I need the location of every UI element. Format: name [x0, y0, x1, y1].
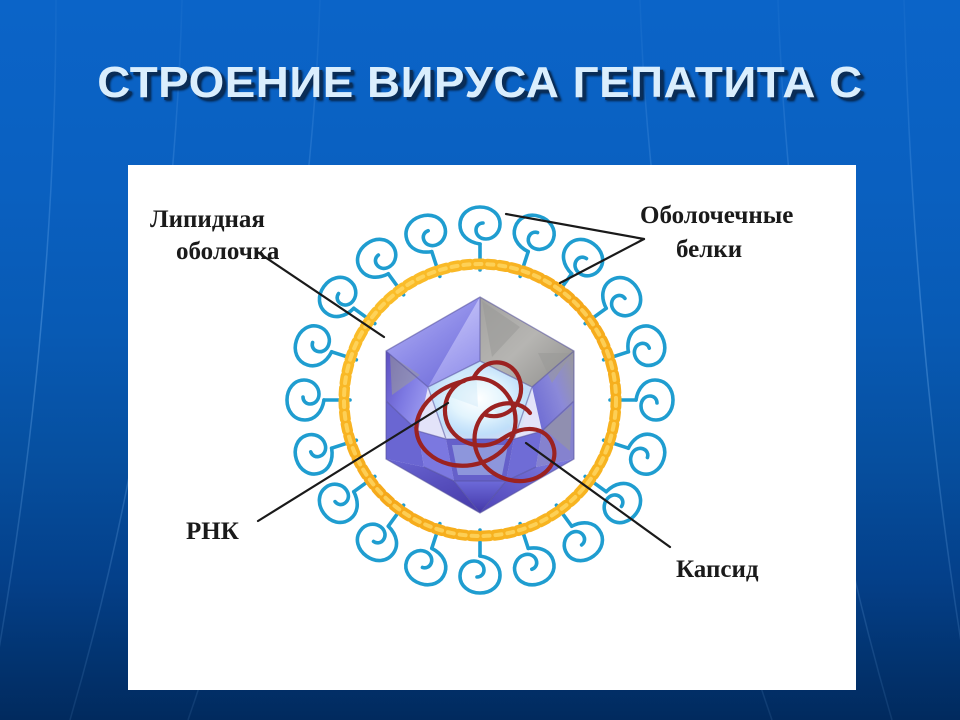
label-envelope-proteins-line2: белки [676, 236, 742, 263]
slide-root: СТРОЕНИЕ ВИРУСА ГЕПАТИТА С [0, 0, 960, 720]
label-lipid-envelope-line2: оболочка [176, 238, 280, 265]
slide-title: СТРОЕНИЕ ВИРУСА ГЕПАТИТА С [0, 58, 960, 108]
illustration-panel: Липидная оболочка Оболочечные белки РНК … [128, 165, 856, 690]
virus-structure-diagram: Липидная оболочка Оболочечные белки РНК … [128, 165, 856, 690]
label-rna: РНК [186, 518, 239, 545]
label-lipid-envelope-line1: Липидная [150, 206, 265, 233]
label-envelope-proteins-line1: Оболочечные [640, 202, 793, 229]
capsid-polyhedron [386, 297, 574, 513]
label-capsid: Капсид [676, 556, 759, 583]
